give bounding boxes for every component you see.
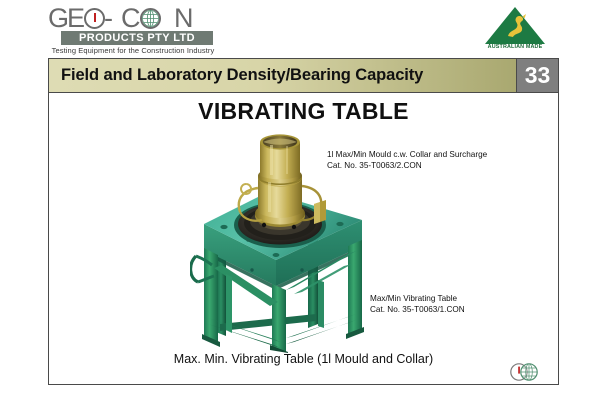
product-caption: Max. Min. Vibrating Table (1l Mould and … xyxy=(48,352,559,366)
wordmark-letter-n: N xyxy=(174,5,194,32)
page-title: VIBRATING TABLE xyxy=(48,98,559,125)
section-header-bar: Field and Laboratory Density/Bearing Cap… xyxy=(48,58,516,93)
brand-tagline: Testing Equipment for the Construction I… xyxy=(48,46,218,55)
wordmark-letter-e: E xyxy=(67,5,85,32)
page-number: 33 xyxy=(525,62,551,89)
globe-icon xyxy=(140,8,161,29)
section-header: Field and Laboratory Density/Bearing Cap… xyxy=(48,58,559,93)
footer-logo xyxy=(506,362,542,382)
annotation-table-line1: Max/Min Vibrating Table xyxy=(370,294,465,305)
wordmark-letter-g: G xyxy=(48,5,69,32)
gauge-needle-icon xyxy=(94,13,96,22)
wordmark-letter-c: C xyxy=(121,5,141,32)
gauge-icon xyxy=(84,8,105,29)
annotation-table: Max/Min Vibrating Table Cat. No. 35-T006… xyxy=(370,294,465,315)
annotation-mould-line2: Cat. No. 35-T0063/2.CON xyxy=(327,161,487,172)
wordmark-dash: - xyxy=(104,5,113,32)
brand-products-bar: PRODUCTS PTY LTD xyxy=(61,31,213,45)
section-title: Field and Laboratory Density/Bearing Cap… xyxy=(61,66,423,85)
annotation-mould: 1l Max/Min Mould c.w. Collar and Surchar… xyxy=(327,150,487,171)
australian-made-logo: AUSTRALIAN MADE xyxy=(484,6,546,54)
australian-made-caption: AUSTRALIAN MADE xyxy=(484,44,546,50)
brand-products-label: PRODUCTS PTY LTD xyxy=(79,33,195,44)
annotation-mould-line1: 1l Max/Min Mould c.w. Collar and Surchar… xyxy=(327,150,487,161)
annotation-table-line2: Cat. No. 35-T0063/1.CON xyxy=(370,305,465,316)
brand-logo: G E - C N PRODUCTS PTY LTD Testing Equip… xyxy=(48,6,213,54)
geo-con-wordmark: G E - C N xyxy=(48,6,213,32)
page-number-box: 33 xyxy=(516,58,559,93)
